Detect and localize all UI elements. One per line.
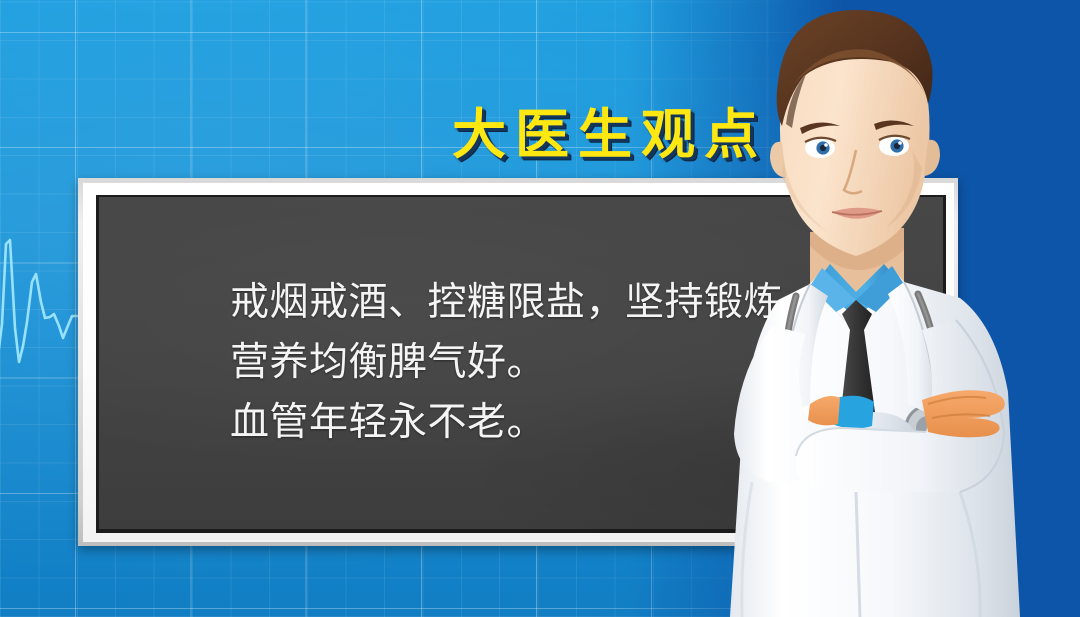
doctor-illustration xyxy=(660,0,1080,617)
slide-canvas: 大医生观点 戒烟戒酒、控糖限盐，坚持锻炼。 营养均衡脾气好。 血管年轻永不老。 xyxy=(0,0,1080,617)
